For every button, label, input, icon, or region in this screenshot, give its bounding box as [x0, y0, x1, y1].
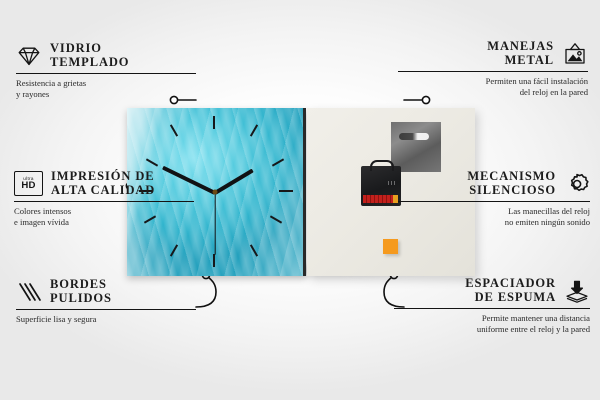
- divider: [398, 71, 588, 72]
- tick-mark: [146, 158, 158, 166]
- clock-pivot: [213, 190, 218, 195]
- metal-hanger-plate: [391, 122, 441, 172]
- hanger-slot: [399, 133, 429, 140]
- second-hand: [214, 193, 215, 255]
- feature-title: MECANISMO SILENCIOSO: [467, 170, 556, 197]
- feature-description: Las manecillas del reloj no emiten ningú…: [398, 206, 590, 228]
- mechanism-red-label: [363, 195, 397, 203]
- feature-hd-print: ultra HD IMPRESIÓN DE ALTA CALIDAD Color…: [14, 170, 194, 228]
- divider: [16, 73, 196, 74]
- feature-title: ESPACIADOR DE ESPUMA: [465, 277, 556, 304]
- feature-description: Resistencia a grietas y rayones: [16, 78, 196, 100]
- picture-hanger-icon: [562, 42, 588, 66]
- diagonal-lines-icon: [16, 280, 42, 304]
- press-down-layers-icon: [564, 279, 590, 303]
- ultra-hd-icon: ultra HD: [14, 171, 43, 196]
- clock-mechanism: [361, 166, 401, 206]
- tick-mark: [213, 116, 215, 129]
- feature-description: Colores intensos e imagen vívida: [14, 206, 194, 228]
- tick-mark: [272, 158, 284, 166]
- foam-spacer-pad: [383, 239, 398, 254]
- feature-silent-mechanism: MECANISMO SILENCIOSO Las manecillas del …: [398, 170, 590, 228]
- feature-title: VIDRIO TEMPLADO: [50, 42, 129, 69]
- mechanism-bail: [370, 160, 394, 171]
- divider: [394, 308, 590, 309]
- divider: [398, 201, 590, 202]
- feature-description: Superficie lisa y segura: [16, 314, 196, 325]
- tick-mark: [270, 215, 282, 223]
- tick-mark: [250, 244, 258, 256]
- ultra-hd-icon-main: HD: [21, 181, 35, 191]
- mechanism-detail: [388, 181, 397, 185]
- divider: [16, 309, 196, 310]
- feature-description: Permiten una fácil instalación del reloj…: [398, 76, 588, 98]
- diamond-icon: [16, 44, 42, 68]
- infographic-canvas: VIDRIO TEMPLADO Resistencia a grietas y …: [0, 0, 600, 400]
- feature-polished-edges: BORDES PULIDOS Superficie lisa y segura: [16, 278, 196, 325]
- tick-mark: [250, 124, 258, 136]
- feature-foam-spacer: ESPACIADOR DE ESPUMA Permite mantener un…: [394, 277, 590, 335]
- feature-title: MANEJAS METAL: [487, 40, 554, 67]
- hour-hand: [214, 169, 254, 195]
- tick-mark: [279, 190, 293, 192]
- divider: [14, 201, 194, 202]
- feature-metal-hooks: MANEJAS METAL Permiten una fácil instala…: [398, 40, 588, 98]
- feature-tempered-glass: VIDRIO TEMPLADO Resistencia a grietas y …: [16, 42, 196, 100]
- tick-mark: [170, 124, 178, 136]
- tick-mark: [213, 254, 215, 267]
- feature-title: BORDES PULIDOS: [50, 278, 112, 305]
- gear-icon: [564, 172, 590, 196]
- feature-title: IMPRESIÓN DE ALTA CALIDAD: [51, 170, 155, 197]
- feature-description: Permite mantener una distancia uniforme …: [394, 313, 590, 335]
- tick-mark: [170, 244, 178, 256]
